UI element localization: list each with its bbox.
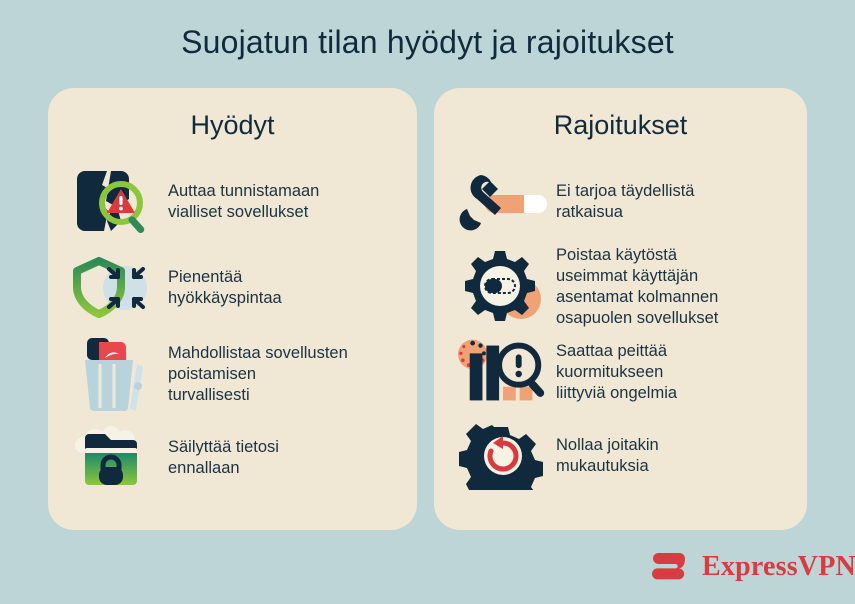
bar-chart-magnifier-alert-icon [456,333,552,411]
panel-benefits-title: Hyödyt [48,110,417,141]
panel-benefits: Hyödyt Auttaa tunnistamaanvialliset sove… [48,88,417,530]
list-item-label: Mahdollistaa sovellustenpoistamisenturva… [162,343,348,406]
broken-app-magnifier-icon [70,163,162,241]
list-item-label: Pienentäähyökkäyspintaa [162,267,282,309]
list-item: Ei tarjoa täydellistäratkaisua [434,163,807,241]
list-item-label: Saattaa peittääkuormitukseenliittyviä on… [552,341,677,404]
list-item: Saattaa peittääkuormitukseenliittyviä on… [434,333,807,411]
list-item: Säilyttää tietosiennallaan [48,419,417,497]
panel-limitations: Rajoitukset Ei tarjoa täydellistäratkais… [434,88,807,530]
wrench-bandage-icon [456,163,552,241]
locked-folder-icon [70,419,162,497]
list-item: Pienentäähyökkäyspintaa [48,249,417,327]
brand-name: ExpressVPN [702,551,855,583]
page-title: Suojatun tilan hyödyt ja rajoitukset [0,24,855,61]
list-item-label: Ei tarjoa täydellistäratkaisua [552,181,695,223]
limitations-list: Ei tarjoa täydellistäratkaisua Poistaa k… [434,163,807,495]
brand-logo: ExpressVPN [652,548,855,586]
list-item: Mahdollistaa sovellustenpoistamisenturva… [48,335,417,413]
panel-limitations-title: Rajoitukset [434,110,807,141]
gear-toggle-blocked-icon [456,248,552,326]
trash-apps-icon [70,335,162,413]
list-item-label: Säilyttää tietosiennallaan [162,437,279,479]
shield-shrink-icon [70,249,162,327]
list-item: Auttaa tunnistamaanvialliset sovellukset [48,163,417,241]
benefits-list: Auttaa tunnistamaanvialliset sovellukset [48,163,417,497]
list-item-label: Auttaa tunnistamaanvialliset sovellukset [162,181,319,223]
list-item: Nollaa joitakinmukautuksia [434,417,807,495]
gear-reset-icon [456,417,552,495]
expressvpn-logo-icon [652,548,690,586]
list-item-label: Poistaa käytöstäuseimmat käyttäjänasenta… [552,245,718,329]
infographic-root: Suojatun tilan hyödyt ja rajoitukset Hyö… [0,0,855,604]
list-item: Poistaa käytöstäuseimmat käyttäjänasenta… [434,245,807,329]
list-item-label: Nollaa joitakinmukautuksia [552,435,659,477]
